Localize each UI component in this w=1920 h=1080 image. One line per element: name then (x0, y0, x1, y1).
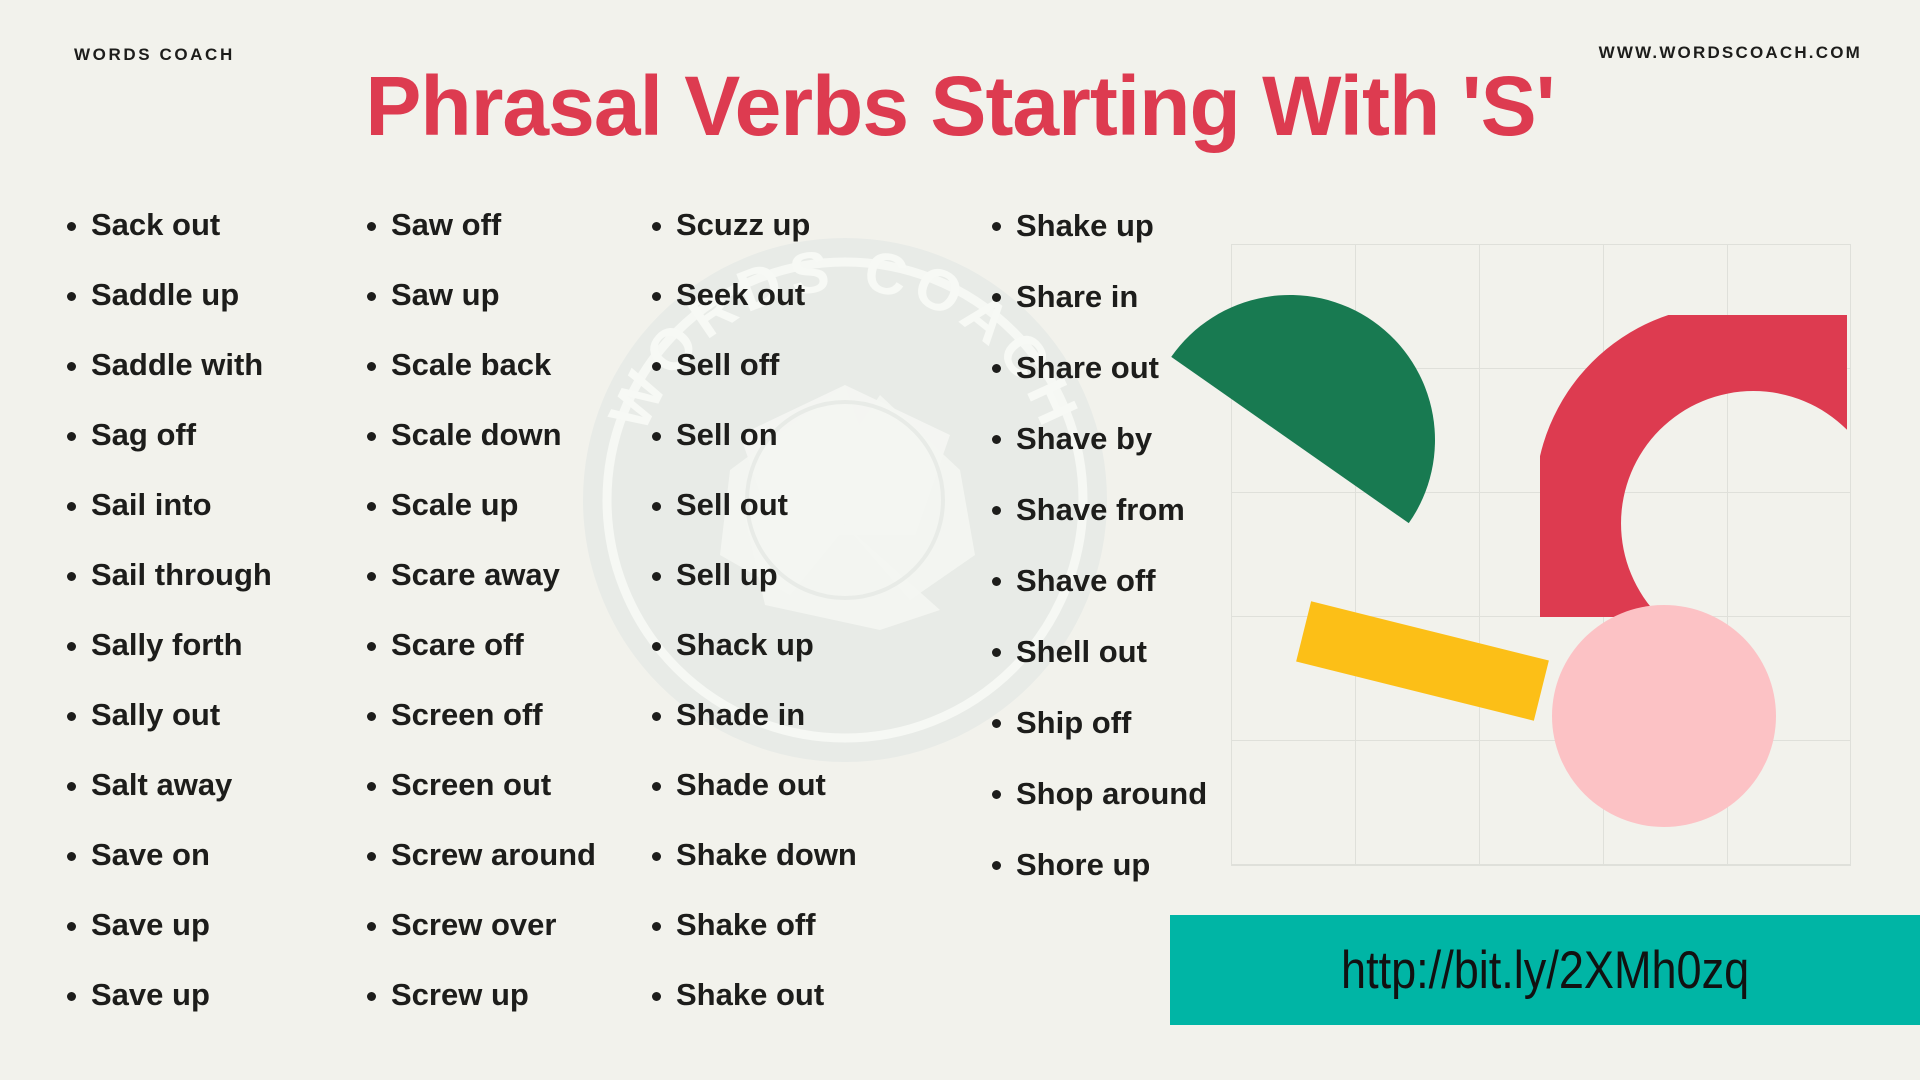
phrasal-verb-item: Shell out (980, 616, 1280, 687)
phrasal-verb-item: Scale back (355, 330, 645, 400)
phrasal-verb-item: Save on (55, 820, 345, 890)
phrasal-verb-item: Shade in (640, 680, 960, 750)
phrasal-verb-item: Sell out (640, 470, 960, 540)
word-column-4: Shake upShare inShare outShave byShave f… (980, 190, 1280, 1030)
phrasal-verb-item: Sail through (55, 540, 345, 610)
phrasal-verb-item: Sally out (55, 680, 345, 750)
phrasal-verb-item: Shore up (980, 829, 1280, 900)
phrasal-verb-item: Ship off (980, 687, 1280, 758)
phrasal-verb-item: Save up (55, 890, 345, 960)
phrasal-verb-item: Salt away (55, 750, 345, 820)
phrasal-verb-item: Scale down (355, 400, 645, 470)
word-column-1: Sack outSaddle upSaddle withSag offSail … (55, 190, 345, 1030)
phrasal-verb-item: Shake down (640, 820, 960, 890)
phrasal-verb-item: Shake off (640, 890, 960, 960)
phrasal-verb-item: Sag off (55, 400, 345, 470)
phrasal-verb-item: Sally forth (55, 610, 345, 680)
phrasal-verb-item: Share out (980, 332, 1280, 403)
phrasal-verb-item: Scuzz up (640, 190, 960, 260)
phrasal-verb-item: Sail into (55, 470, 345, 540)
phrasal-verb-item: Sell up (640, 540, 960, 610)
word-column-2: Saw offSaw upScale backScale downScale u… (355, 190, 645, 1030)
phrasal-verb-item: Scare off (355, 610, 645, 680)
phrasal-verb-item: Sell off (640, 330, 960, 400)
phrasal-verb-item: Screen out (355, 750, 645, 820)
phrasal-verb-item: Saddle up (55, 260, 345, 330)
phrasal-verb-item: Scare away (355, 540, 645, 610)
phrasal-verb-item: Sell on (640, 400, 960, 470)
phrasal-verb-item: Scale up (355, 470, 645, 540)
link-banner[interactable]: http://bit.ly/2XMh0zq (1170, 915, 1920, 1025)
phrasal-verb-item: Shack up (640, 610, 960, 680)
phrasal-verb-item: Screw around (355, 820, 645, 890)
phrasal-verb-item: Shave off (980, 545, 1280, 616)
phrasal-verb-item: Save up (55, 960, 345, 1030)
phrasal-verb-item: Saw off (355, 190, 645, 260)
phrasal-verb-columns: Sack outSaddle upSaddle withSag offSail … (0, 190, 1920, 1030)
phrasal-verb-item: Shade out (640, 750, 960, 820)
phrasal-verb-item: Screw over (355, 890, 645, 960)
phrasal-verb-item: Screen off (355, 680, 645, 750)
phrasal-verb-item: Screw up (355, 960, 645, 1030)
phrasal-verb-item: Seek out (640, 260, 960, 330)
phrasal-verb-item: Shake out (640, 960, 960, 1030)
phrasal-verb-item: Shop around (980, 758, 1280, 829)
phrasal-verb-item: Shave by (980, 403, 1280, 474)
short-link-text[interactable]: http://bit.ly/2XMh0zq (1341, 940, 1749, 1001)
page-title: Phrasal Verbs Starting With 'S' (0, 58, 1920, 155)
phrasal-verb-item: Shave from (980, 474, 1280, 545)
phrasal-verb-item: Shake up (980, 190, 1280, 261)
phrasal-verb-item: Saddle with (55, 330, 345, 400)
phrasal-verb-item: Sack out (55, 190, 345, 260)
word-column-3: Scuzz upSeek outSell offSell onSell outS… (640, 190, 960, 1030)
phrasal-verb-item: Saw up (355, 260, 645, 330)
phrasal-verb-item: Share in (980, 261, 1280, 332)
